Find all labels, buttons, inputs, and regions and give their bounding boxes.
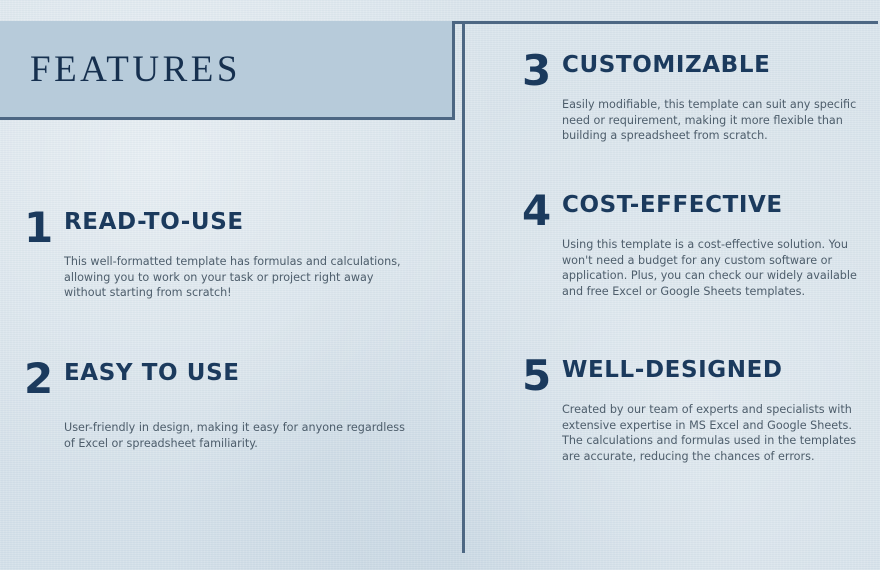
feature-body-2: User-friendly in design, making it easy … <box>64 420 414 452</box>
feature-body-3: Easily modifiable, this template can sui… <box>562 97 862 145</box>
feature-number-2: 2 <box>24 362 64 396</box>
feature-item-4: 4 COST-EFFECTIVE Using this template is … <box>522 192 880 300</box>
feature-number-4: 4 <box>522 194 562 228</box>
feature-number-5: 5 <box>522 359 562 393</box>
feature-body-5: Created by our team of experts and speci… <box>562 402 862 466</box>
feature-item-2: 2 EASY TO USE User-friendly in design, m… <box>24 360 444 451</box>
feature-number-1: 1 <box>24 211 64 245</box>
feature-heading-row: 4 COST-EFFECTIVE <box>522 192 880 228</box>
page-title: FEATURES <box>0 51 241 88</box>
feature-title-2: EASY TO USE <box>64 362 240 385</box>
feature-title-3: CUSTOMIZABLE <box>562 54 770 77</box>
feature-item-5: 5 WELL-DESIGNED Created by our team of e… <box>522 357 880 465</box>
features-header-panel: FEATURES <box>0 21 455 120</box>
feature-heading-row: 2 EASY TO USE <box>24 360 444 396</box>
vertical-divider-rule <box>462 21 465 553</box>
feature-heading-row: 1 READ-TO-USE <box>24 209 444 245</box>
feature-number-3: 3 <box>522 54 562 88</box>
feature-heading-row: 5 WELL-DESIGNED <box>522 357 880 393</box>
feature-title-4: COST-EFFECTIVE <box>562 194 783 217</box>
feature-body-1: This well-formatted template has formula… <box>64 254 414 302</box>
feature-title-1: READ-TO-USE <box>64 211 244 234</box>
feature-title-5: WELL-DESIGNED <box>562 359 783 382</box>
feature-body-4: Using this template is a cost-effective … <box>562 237 872 301</box>
feature-item-3: 3 CUSTOMIZABLE Easily modifiable, this t… <box>522 52 880 144</box>
feature-item-1: 1 READ-TO-USE This well-formatted templa… <box>24 209 444 301</box>
features-slide: FEATURES 1 READ-TO-USE This well-formatt… <box>0 0 880 570</box>
feature-heading-row: 3 CUSTOMIZABLE <box>522 52 880 88</box>
